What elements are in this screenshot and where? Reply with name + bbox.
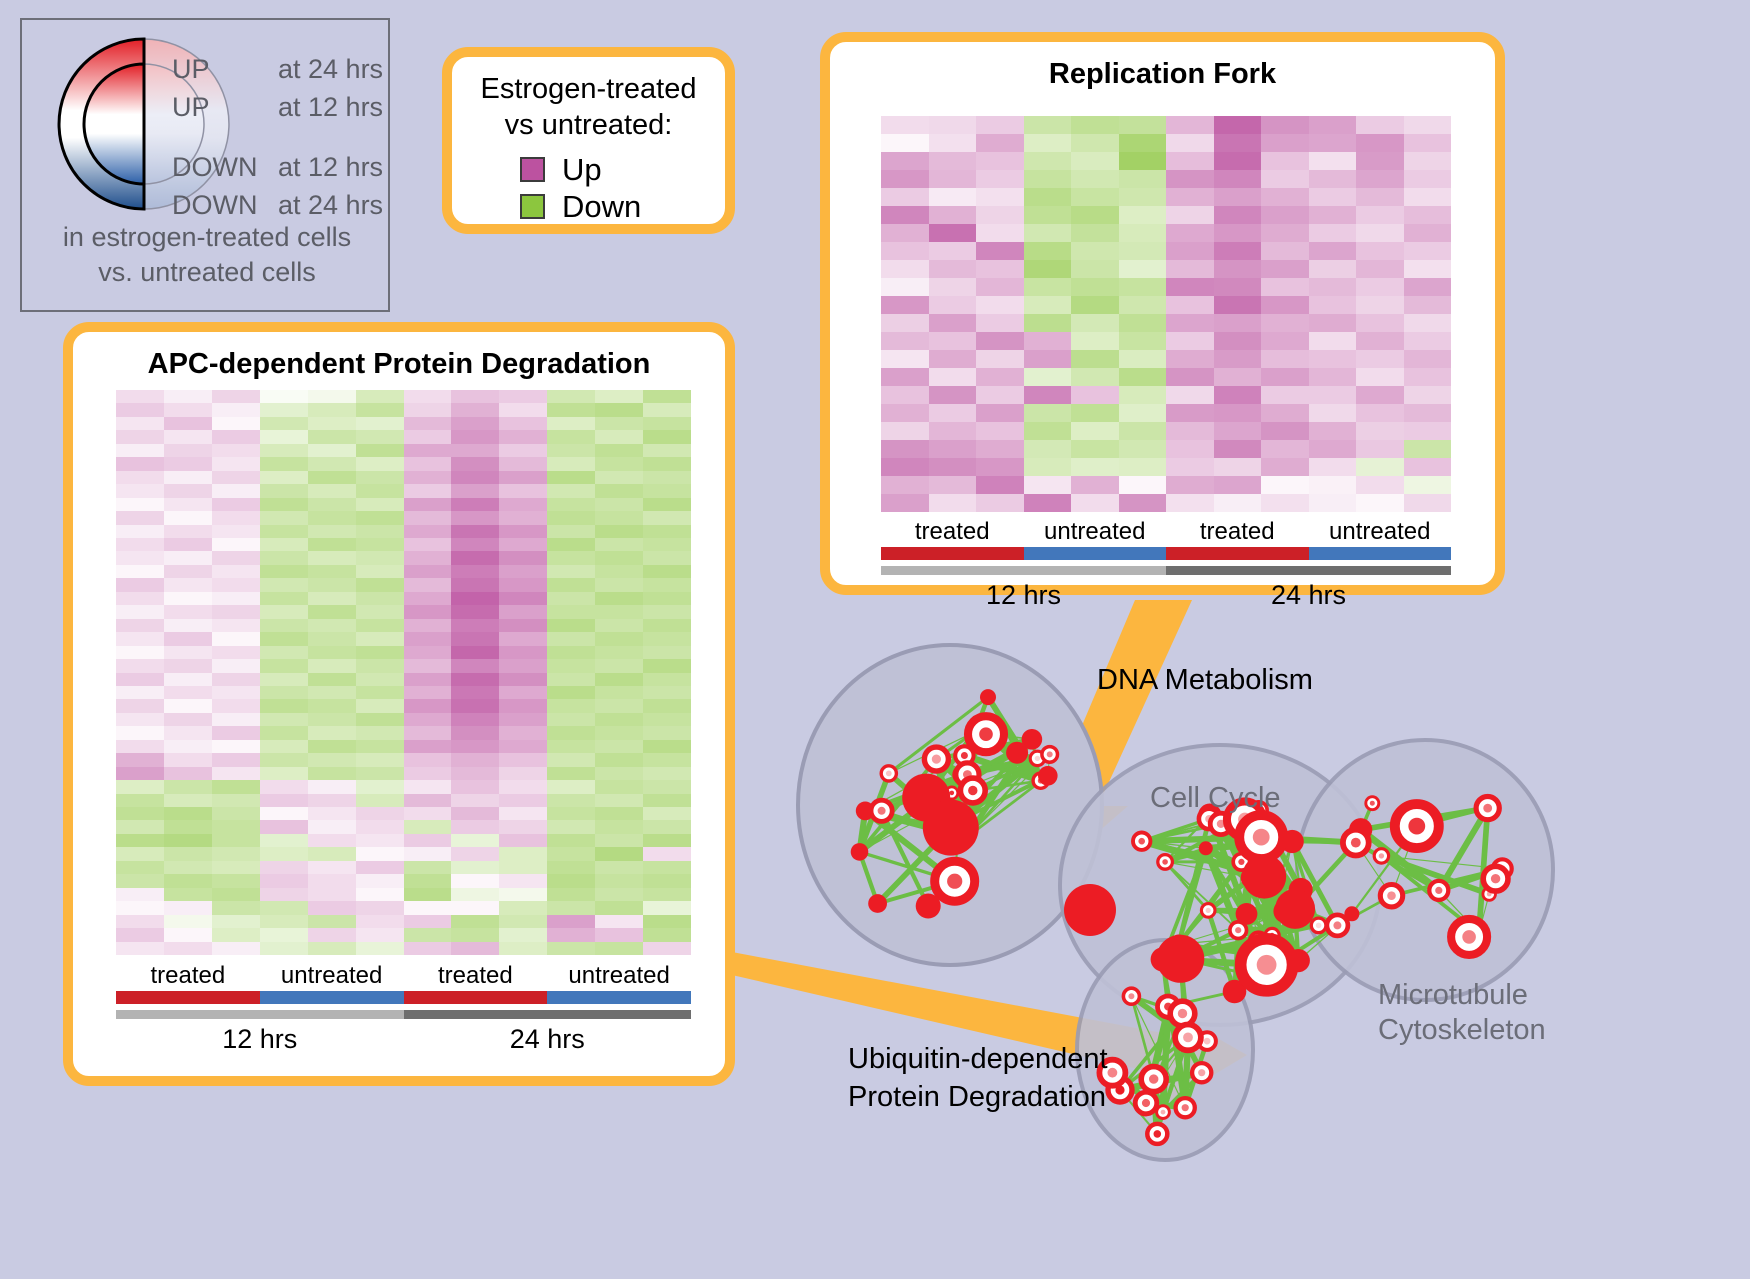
time-colorbar-segment xyxy=(404,1010,692,1019)
network-node-core xyxy=(961,752,968,759)
heatmap-cell xyxy=(499,942,547,955)
apc-heatmap xyxy=(116,390,691,955)
heatmap-cell xyxy=(929,242,977,260)
heatmap-cell xyxy=(308,592,356,605)
heatmap-cell xyxy=(1309,116,1357,134)
heatmap-cell xyxy=(164,565,212,578)
heatmap-cell xyxy=(1309,458,1357,476)
heatmap-cell xyxy=(308,511,356,524)
network-node xyxy=(1242,855,1286,899)
heatmap-cell xyxy=(404,403,452,416)
heatmap-cell xyxy=(1024,170,1072,188)
heatmap-cell xyxy=(976,368,1024,386)
heatmap-cell xyxy=(308,444,356,457)
heatmap-cell xyxy=(881,206,929,224)
heatmap-cell xyxy=(1309,476,1357,494)
heatmap-cell xyxy=(116,780,164,793)
heatmap-cell xyxy=(451,834,499,847)
heatmap-cell xyxy=(260,457,308,470)
heatmap-cell xyxy=(1071,386,1119,404)
heatmap-cell xyxy=(976,332,1024,350)
heatmap-cell xyxy=(643,417,691,430)
heatmap-cell xyxy=(547,444,595,457)
up-swatch-icon xyxy=(520,157,545,182)
heatmap-cell xyxy=(451,820,499,833)
heatmap-cell xyxy=(1166,476,1214,494)
heatmap-cell xyxy=(1214,134,1262,152)
heatmap-cell xyxy=(976,134,1024,152)
heatmap-cell xyxy=(499,498,547,511)
down-swatch-icon xyxy=(520,194,545,219)
heatmap-cell xyxy=(499,578,547,591)
heatmap-cell xyxy=(1166,134,1214,152)
heatmap-cell xyxy=(547,417,595,430)
heatmap-cell xyxy=(116,525,164,538)
heatmap-cell xyxy=(595,780,643,793)
heatmap-cell xyxy=(1309,440,1357,458)
heatmap-cell xyxy=(356,417,404,430)
time-colorbar-segment xyxy=(116,1010,404,1019)
heatmap-cell xyxy=(308,646,356,659)
heatmap-cell xyxy=(451,592,499,605)
heatmap-cell xyxy=(1071,440,1119,458)
heatmap-cell xyxy=(499,794,547,807)
heatmap-cell xyxy=(976,116,1024,134)
heatmap-cell xyxy=(929,368,977,386)
heatmap-cell xyxy=(1261,314,1309,332)
heatmap-cell xyxy=(929,458,977,476)
heatmap-cell xyxy=(881,404,929,422)
heatmap-cell xyxy=(356,928,404,941)
heatmap-cell xyxy=(1356,314,1404,332)
heatmap-cell xyxy=(1119,134,1167,152)
heatmap-cell xyxy=(260,874,308,887)
heatmap-cell xyxy=(1404,386,1452,404)
heatmap-cell xyxy=(356,646,404,659)
heatmap-cell xyxy=(1309,134,1357,152)
heatmap-cell xyxy=(1119,476,1167,494)
heatmap-cell xyxy=(643,753,691,766)
network-node-core xyxy=(1435,887,1442,894)
cluster-label-microtubule-cytoskeleton: Microtubule Cytoskeleton xyxy=(1378,978,1546,1048)
heatmap-cell xyxy=(451,632,499,645)
heatmap-cell xyxy=(116,511,164,524)
heatmap-cell xyxy=(404,699,452,712)
heatmap-cell xyxy=(116,646,164,659)
legend-row-up24: UP at 24 hrs xyxy=(172,54,387,92)
heatmap-cell xyxy=(164,861,212,874)
legend-item-up: Up xyxy=(520,151,725,188)
heatmap-cell xyxy=(1214,206,1262,224)
heatmap-cell xyxy=(164,820,212,833)
heatmap-cell xyxy=(404,847,452,860)
heatmap-cell xyxy=(404,673,452,686)
heatmap-cell xyxy=(308,538,356,551)
network-node-core xyxy=(878,807,886,815)
legend-key: UP xyxy=(172,92,278,123)
heatmap-cell xyxy=(260,834,308,847)
legend-value: at 12 hrs xyxy=(278,152,383,183)
heatmap-cell xyxy=(356,780,404,793)
heatmap-cell xyxy=(116,538,164,551)
heatmap-cell xyxy=(1309,224,1357,242)
heatmap-cell xyxy=(643,847,691,860)
heatmap-cell xyxy=(451,525,499,538)
heatmap-cell xyxy=(643,699,691,712)
heatmap-cell xyxy=(356,942,404,955)
heatmap-cell xyxy=(499,928,547,941)
treatment-legend-title: Estrogen-treated vs untreated: xyxy=(452,71,725,143)
heatmap-cell xyxy=(404,834,452,847)
heatmap-cell xyxy=(451,740,499,753)
heatmap-cell xyxy=(116,847,164,860)
heatmap-cell xyxy=(356,794,404,807)
heatmap-cell xyxy=(1071,260,1119,278)
heatmap-cell xyxy=(116,484,164,497)
heatmap-cell xyxy=(451,780,499,793)
heatmap-cell xyxy=(499,915,547,928)
heatmap-cell xyxy=(1404,206,1452,224)
heatmap-cell xyxy=(976,242,1024,260)
heatmap-cell xyxy=(260,498,308,511)
heatmap-cell xyxy=(451,726,499,739)
heatmap-cell xyxy=(643,673,691,686)
heatmap-cell xyxy=(451,901,499,914)
heatmap-cell xyxy=(116,619,164,632)
heatmap-cell xyxy=(1119,494,1167,512)
heatmap-cell xyxy=(451,646,499,659)
heatmap-cell xyxy=(212,901,260,914)
heatmap-cell xyxy=(1024,224,1072,242)
heatmap-cell xyxy=(1309,260,1357,278)
heatmap-cell xyxy=(595,565,643,578)
heatmap-cell xyxy=(116,888,164,901)
heatmap-cell xyxy=(260,942,308,955)
heatmap-cell xyxy=(499,605,547,618)
heatmap-cell xyxy=(643,403,691,416)
heatmap-cell xyxy=(881,278,929,296)
heatmap-cell xyxy=(643,538,691,551)
heatmap-cell xyxy=(976,296,1024,314)
heatmap-cell xyxy=(547,713,595,726)
network-node-core xyxy=(1257,955,1277,975)
heatmap-cell xyxy=(260,699,308,712)
heatmap-cell xyxy=(260,807,308,820)
heatmap-cell xyxy=(164,605,212,618)
heatmap-cell xyxy=(1071,350,1119,368)
heatmap-cell xyxy=(643,471,691,484)
heatmap-cell xyxy=(164,726,212,739)
colorwheel-caption: in estrogen-treated cells vs. untreated … xyxy=(22,220,392,290)
heatmap-cell xyxy=(308,794,356,807)
heatmap-cell xyxy=(308,457,356,470)
heatmap-cell xyxy=(1404,476,1452,494)
network-node-core xyxy=(1238,859,1244,865)
heatmap-cell xyxy=(547,928,595,941)
heatmap-cell xyxy=(1356,404,1404,422)
heatmap-cell xyxy=(595,834,643,847)
heatmap-cell xyxy=(595,403,643,416)
heatmap-cell xyxy=(929,188,977,206)
heatmap-cell xyxy=(308,632,356,645)
heatmap-cell xyxy=(1404,422,1452,440)
heatmap-cell xyxy=(643,646,691,659)
heatmap-cell xyxy=(1024,458,1072,476)
heatmap-cell xyxy=(356,767,404,780)
heatmap-cell xyxy=(308,471,356,484)
heatmap-cell xyxy=(116,592,164,605)
heatmap-cell xyxy=(116,605,164,618)
heatmap-cell xyxy=(499,471,547,484)
heatmap-cell xyxy=(1071,422,1119,440)
heatmap-cell xyxy=(643,928,691,941)
heatmap-cell xyxy=(1214,386,1262,404)
heatmap-cell xyxy=(929,440,977,458)
heatmap-cell xyxy=(356,820,404,833)
heatmap-cell xyxy=(595,659,643,672)
network-node-core xyxy=(1253,829,1270,846)
group-label: untreated xyxy=(547,962,691,990)
heatmap-cell xyxy=(1166,440,1214,458)
heatmap-cell xyxy=(1356,350,1404,368)
heatmap-cell xyxy=(1356,278,1404,296)
group-label: treated xyxy=(404,962,548,990)
group-colorbar-segment xyxy=(116,991,260,1004)
heatmap-cell xyxy=(1309,368,1357,386)
heatmap-cell xyxy=(116,928,164,941)
heatmap-cell xyxy=(643,457,691,470)
heatmap-cell xyxy=(547,430,595,443)
heatmap-cell xyxy=(976,206,1024,224)
heatmap-cell xyxy=(1166,404,1214,422)
heatmap-cell xyxy=(308,673,356,686)
heatmap-cell xyxy=(499,686,547,699)
heatmap-cell xyxy=(451,498,499,511)
heatmap-cell xyxy=(212,726,260,739)
heatmap-cell xyxy=(451,565,499,578)
time-colorbar-segment xyxy=(1166,566,1451,575)
heatmap-cell xyxy=(595,942,643,955)
heatmap-cell xyxy=(212,699,260,712)
heatmap-cell xyxy=(356,538,404,551)
heatmap-cell xyxy=(356,525,404,538)
heatmap-cell xyxy=(404,592,452,605)
heatmap-cell xyxy=(1166,386,1214,404)
heatmap-cell xyxy=(499,551,547,564)
heatmap-cell xyxy=(1356,368,1404,386)
heatmap-cell xyxy=(116,417,164,430)
heatmap-cell xyxy=(260,444,308,457)
network-node-core xyxy=(1128,993,1134,999)
group-colorbar-segment xyxy=(404,991,548,1004)
network-node-core xyxy=(1387,891,1396,900)
heatmap-cell xyxy=(643,605,691,618)
heatmap-cell xyxy=(1024,440,1072,458)
heatmap-cell xyxy=(1261,224,1309,242)
heatmap-cell xyxy=(164,713,212,726)
heatmap-cell xyxy=(212,740,260,753)
heatmap-cell xyxy=(976,458,1024,476)
heatmap-cell xyxy=(595,457,643,470)
time-colorbar-segment xyxy=(881,566,1166,575)
heatmap-cell xyxy=(1024,386,1072,404)
heatmap-cell xyxy=(164,444,212,457)
heatmap-cell xyxy=(356,390,404,403)
heatmap-cell xyxy=(212,484,260,497)
heatmap-cell xyxy=(595,390,643,403)
heatmap-cell xyxy=(451,915,499,928)
heatmap-cell xyxy=(643,861,691,874)
heatmap-cell xyxy=(547,605,595,618)
heatmap-cell xyxy=(212,471,260,484)
heatmap-cell xyxy=(1024,368,1072,386)
heatmap-cell xyxy=(451,444,499,457)
heatmap-cell xyxy=(1024,134,1072,152)
heatmap-cell xyxy=(451,753,499,766)
heatmap-cell xyxy=(547,780,595,793)
heatmap-cell xyxy=(260,901,308,914)
heatmap-cell xyxy=(404,794,452,807)
heatmap-cell xyxy=(260,565,308,578)
heatmap-cell xyxy=(356,847,404,860)
heatmap-cell xyxy=(116,699,164,712)
legend-item-label: Up xyxy=(562,152,602,188)
time-label: 12 hrs xyxy=(881,580,1166,611)
heatmap-cell xyxy=(1261,368,1309,386)
heatmap-cell xyxy=(164,794,212,807)
heatmap-cell xyxy=(595,807,643,820)
heatmap-cell xyxy=(1214,350,1262,368)
heatmap-cell xyxy=(356,740,404,753)
heatmap-cell xyxy=(595,820,643,833)
heatmap-cell xyxy=(260,928,308,941)
heatmap-cell xyxy=(547,551,595,564)
heatmap-cell xyxy=(1024,296,1072,314)
heatmap-cell xyxy=(356,444,404,457)
heatmap-cell xyxy=(116,861,164,874)
heatmap-cell xyxy=(212,619,260,632)
heatmap-cell xyxy=(499,565,547,578)
heatmap-cell xyxy=(308,820,356,833)
heatmap-cell xyxy=(212,430,260,443)
heatmap-cell xyxy=(1166,188,1214,206)
heatmap-cell xyxy=(164,753,212,766)
heatmap-cell xyxy=(1261,386,1309,404)
heatmap-cell xyxy=(356,619,404,632)
heatmap-cell xyxy=(308,928,356,941)
heatmap-cell xyxy=(595,551,643,564)
heatmap-cell xyxy=(1261,278,1309,296)
heatmap-cell xyxy=(404,861,452,874)
heatmap-cell xyxy=(595,713,643,726)
heatmap-cell xyxy=(356,551,404,564)
heatmap-cell xyxy=(643,820,691,833)
heatmap-cell xyxy=(356,673,404,686)
heatmap-cell xyxy=(595,417,643,430)
heatmap-cell xyxy=(881,260,929,278)
heatmap-cell xyxy=(260,538,308,551)
heatmap-cell xyxy=(308,834,356,847)
network-node-core xyxy=(1333,921,1341,929)
network-node-core xyxy=(947,874,962,889)
network-node-core xyxy=(1149,1074,1158,1083)
heatmap-cell xyxy=(1119,242,1167,260)
heatmap-cell xyxy=(1309,332,1357,350)
heatmap-cell xyxy=(212,942,260,955)
heatmap-cell xyxy=(881,458,929,476)
heatmap-cell xyxy=(404,753,452,766)
network-node xyxy=(851,843,869,861)
heatmap-cell xyxy=(260,673,308,686)
replication-fork-panel: Replication Fork treated untreated treat… xyxy=(820,32,1505,595)
heatmap-cell xyxy=(1214,152,1262,170)
network-node xyxy=(1038,766,1058,786)
heatmap-cell xyxy=(1261,296,1309,314)
heatmap-cell xyxy=(643,915,691,928)
heatmap-cell xyxy=(1404,494,1452,512)
heatmap-cell xyxy=(116,444,164,457)
network-node-core xyxy=(1198,1069,1205,1076)
legend-spacer xyxy=(172,130,387,152)
heatmap-cell xyxy=(308,551,356,564)
heatmap-cell xyxy=(643,511,691,524)
heatmap-cell xyxy=(451,699,499,712)
heatmap-cell xyxy=(212,565,260,578)
network-node-core xyxy=(886,771,892,777)
heatmap-cell xyxy=(404,605,452,618)
heatmap-cell xyxy=(404,498,452,511)
colorwheel-legend-box: UP at 24 hrs UP at 12 hrs DOWN at 12 hrs… xyxy=(20,18,390,312)
heatmap-cell xyxy=(260,915,308,928)
heatmap-cell xyxy=(212,753,260,766)
heatmap-cell xyxy=(1404,188,1452,206)
heatmap-cell xyxy=(643,632,691,645)
heatmap-cell xyxy=(499,444,547,457)
heatmap-cell xyxy=(116,551,164,564)
heatmap-cell xyxy=(643,551,691,564)
heatmap-cell xyxy=(164,740,212,753)
heatmap-cell xyxy=(929,152,977,170)
heatmap-cell xyxy=(595,511,643,524)
heatmap-cell xyxy=(451,928,499,941)
heatmap-cell xyxy=(1166,314,1214,332)
heatmap-cell xyxy=(1356,152,1404,170)
heatmap-cell xyxy=(356,901,404,914)
heatmap-cell xyxy=(595,430,643,443)
heatmap-cell xyxy=(451,605,499,618)
heatmap-cell xyxy=(404,726,452,739)
heatmap-cell xyxy=(404,888,452,901)
cluster-label-line-2: Cytoskeleton xyxy=(1378,1013,1546,1048)
heatmap-cell xyxy=(308,605,356,618)
heatmap-cell xyxy=(451,471,499,484)
caption-line-1: in estrogen-treated cells xyxy=(22,220,392,255)
heatmap-cell xyxy=(1261,260,1309,278)
heatmap-cell xyxy=(1071,458,1119,476)
heatmap-cell xyxy=(1071,152,1119,170)
heatmap-cell xyxy=(260,888,308,901)
heatmap-cell xyxy=(881,134,929,152)
heatmap-cell xyxy=(976,494,1024,512)
heatmap-cell xyxy=(260,551,308,564)
heatmap-cell xyxy=(404,942,452,955)
heatmap-cell xyxy=(356,471,404,484)
heatmap-cell xyxy=(1024,242,1072,260)
heatmap-cell xyxy=(1071,314,1119,332)
heatmap-cell xyxy=(164,471,212,484)
heatmap-cell xyxy=(164,807,212,820)
heatmap-cell xyxy=(547,847,595,860)
